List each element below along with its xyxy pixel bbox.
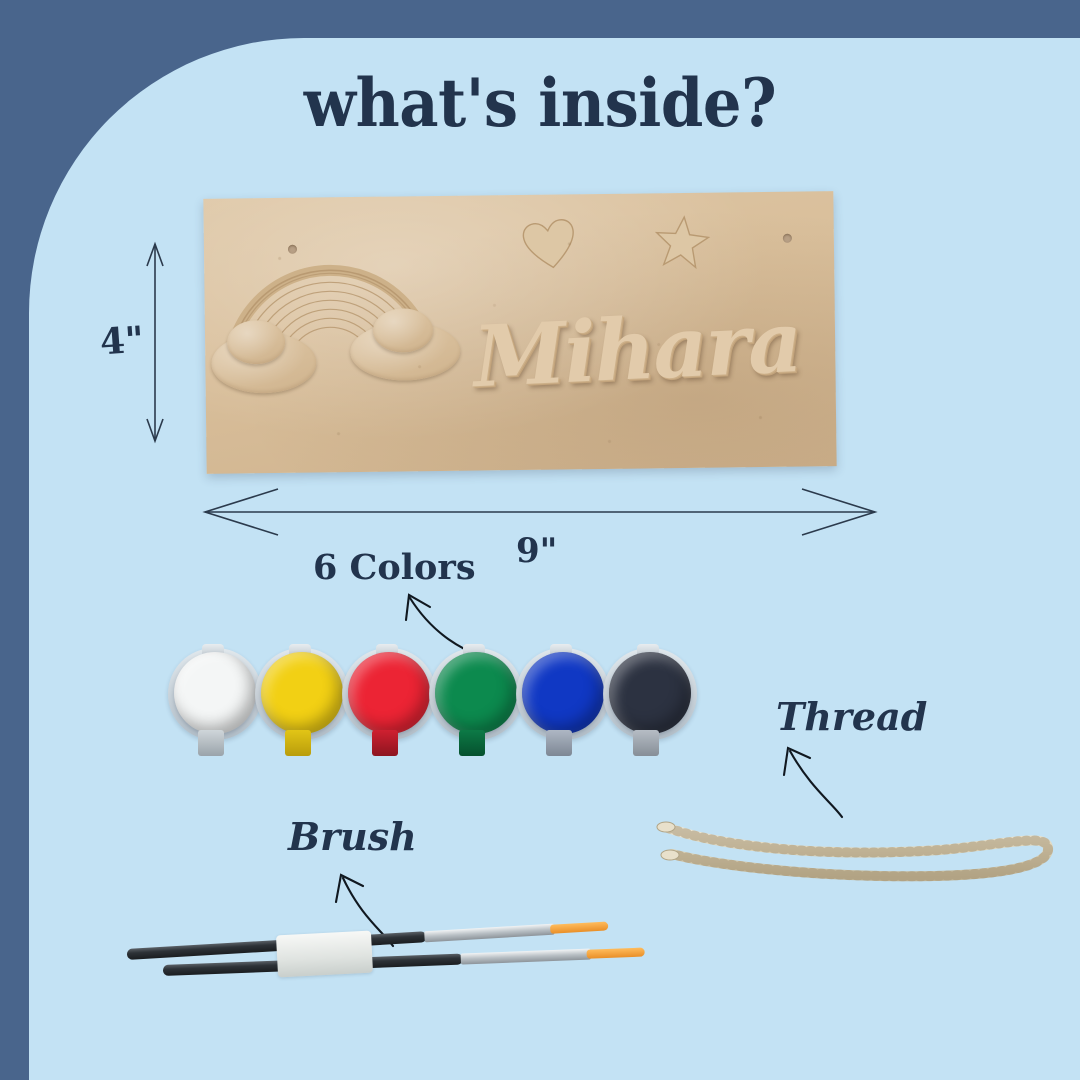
height-dimension-arrow bbox=[143, 240, 167, 445]
pot-cap bbox=[522, 652, 604, 734]
pot-cap bbox=[609, 652, 691, 734]
pot-cap bbox=[435, 652, 517, 734]
width-dimension-label: 9" bbox=[516, 531, 557, 571]
annotation-label-colors: 6 Colors bbox=[313, 547, 476, 588]
hang-hole-right bbox=[783, 234, 792, 243]
pot-cap bbox=[174, 652, 256, 734]
paint-pot-red bbox=[342, 646, 436, 744]
plaque-name-text: Mihara bbox=[471, 300, 802, 399]
paint-pot-white bbox=[168, 646, 262, 744]
paint-pot-row bbox=[168, 640, 688, 750]
pot-tab bbox=[546, 730, 572, 756]
pot-cap bbox=[261, 652, 343, 734]
pot-tab bbox=[198, 730, 224, 756]
brush-bristles bbox=[550, 921, 608, 933]
height-dimension-label: 4" bbox=[99, 319, 146, 364]
brush-ferrule bbox=[461, 949, 591, 965]
pot-tab bbox=[459, 730, 485, 756]
brush-ferrule bbox=[424, 924, 554, 943]
thread-rope bbox=[650, 780, 1070, 890]
annotation-label-brush: Brush bbox=[288, 814, 417, 859]
annotation-label-thread: Thread bbox=[776, 694, 927, 739]
hang-hole-left bbox=[288, 245, 297, 254]
star-shape bbox=[652, 213, 713, 272]
poster-canvas: what's inside? bbox=[0, 0, 1080, 1080]
pot-cap bbox=[348, 652, 430, 734]
brush-paper-wrap bbox=[276, 931, 373, 978]
wooden-plaque: Mihara bbox=[203, 191, 836, 474]
pot-tab bbox=[372, 730, 398, 756]
heart-shape bbox=[521, 217, 580, 272]
paint-pot-yellow bbox=[255, 646, 349, 744]
page-title: what's inside? bbox=[43, 64, 1037, 142]
pot-tab bbox=[285, 730, 311, 756]
paint-pot-blue bbox=[516, 646, 610, 744]
width-dimension-arrow bbox=[200, 487, 880, 537]
paint-pot-black bbox=[603, 646, 697, 744]
pot-tab bbox=[633, 730, 659, 756]
brush-group bbox=[115, 905, 615, 1000]
paint-pot-green bbox=[429, 646, 523, 744]
